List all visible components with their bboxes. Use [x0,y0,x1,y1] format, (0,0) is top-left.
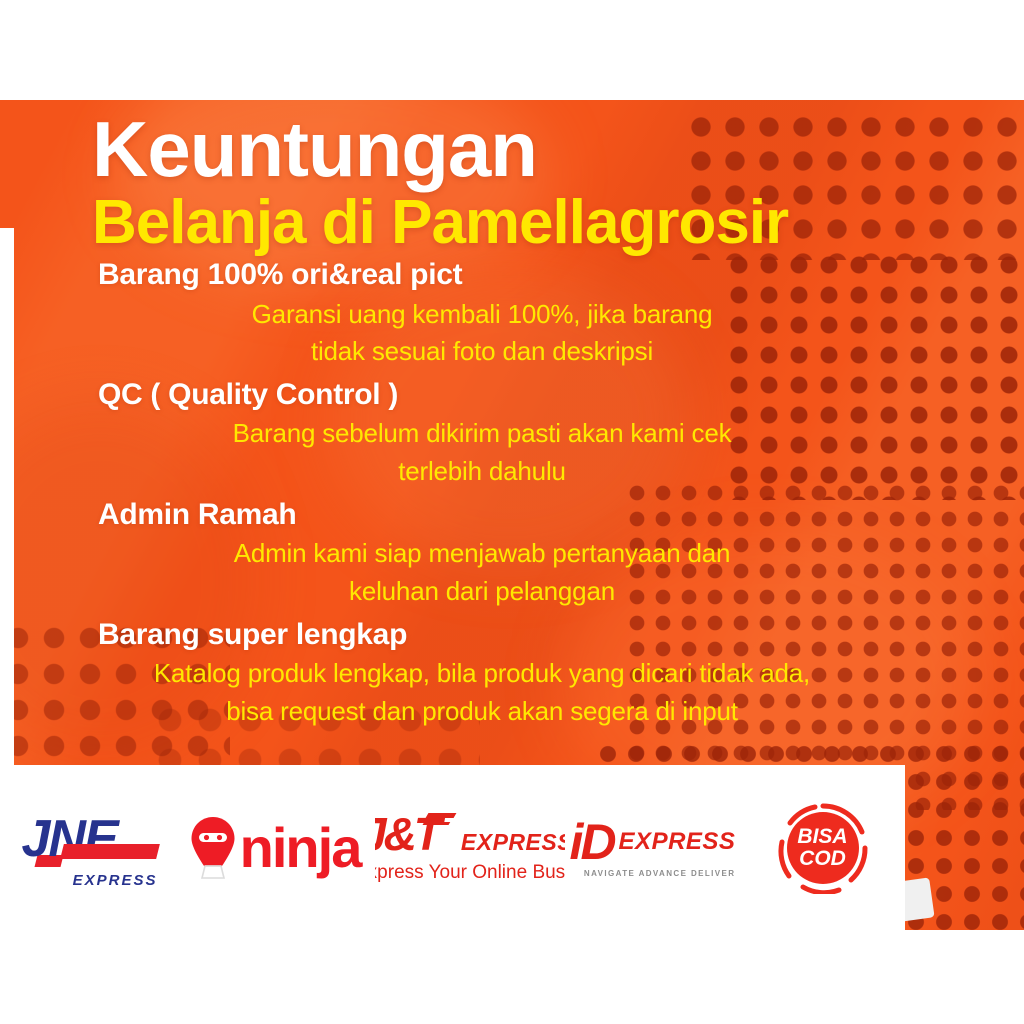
idexpress-tagline: NAVIGATE ADVANCE DELIVER [570,869,736,878]
benefit-description-line: Barang sebelum dikirim pasti akan kami c… [60,415,904,453]
map-pin-ninja-icon [190,816,236,880]
courier-logo-idexpress: iD EXPRESS NAVIGATE ADVANCE DELIVER [565,765,740,930]
idexpress-wordmark: iD [570,817,614,867]
benefit-description: Garansi uang kembali 100%, jika barang t… [0,296,1024,371]
benefits-list: Barang 100% ori&real pict Garansi uang k… [0,255,1024,735]
benefit-description-line: keluhan dari pelanggan [60,573,904,611]
jnt-swoosh-icon [425,813,456,818]
headline-block: Keuntungan Belanja di Pamellagrosir [0,100,1024,255]
benefit-description: Katalog produk lengkap, bila produk yang… [0,655,1024,730]
benefit-description-line: Garansi uang kembali 100%, jika barang [60,296,904,334]
benefit-item: QC ( Quality Control ) Barang sebelum di… [0,375,1024,491]
headline-title-primary: Keuntungan [92,110,1024,188]
benefit-description-line: bisa request dan produk akan segera di i… [60,693,904,731]
bottom-white-margin [0,930,1024,1024]
benefit-title: Admin Ramah [0,495,1024,536]
cod-badge-circle: BISA COD [787,812,859,884]
ninja-wordmark: ninja [240,820,361,876]
jnt-wordmark: J&T [375,811,439,857]
cod-label-line2: COD [799,848,846,869]
cod-label-line1: BISA [797,826,847,847]
benefit-item: Barang 100% ori&real pict Garansi uang k… [0,255,1024,371]
jne-red-bar-icon [60,844,160,859]
top-white-margin [0,0,1024,100]
badge-bisa-cod: BISA COD [740,765,905,930]
courier-logo-jnt: J&T EXPRESS Express Your Online Business [375,765,565,930]
headline-title-secondary: Belanja di Pamellagrosir [92,190,1024,255]
jne-express-label: EXPRESS [73,872,158,889]
benefit-description-line: Admin kami siap menjawab pertanyaan dan [60,535,904,573]
benefit-description-line: terlebih dahulu [60,453,904,491]
benefit-description: Barang sebelum dikirim pasti akan kami c… [0,415,1024,490]
benefit-title: QC ( Quality Control ) [0,375,1024,416]
courier-logo-jne: JNE EXPRESS [0,765,175,930]
benefit-description-line: Katalog produk lengkap, bila produk yang… [60,655,904,693]
benefit-title: Barang 100% ori&real pict [0,255,1024,296]
courier-logos-bar: JNE EXPRESS ninja J&T EXPRESS Express [0,765,905,930]
benefit-description: Admin kami siap menjawab pertanyaan dan … [0,535,1024,610]
jnt-tagline: Express Your Online Business [375,862,565,884]
jnt-express-label: EXPRESS [461,829,565,856]
benefit-title: Barang super lengkap [0,615,1024,656]
benefit-description-line: tidak sesuai foto dan deskripsi [60,333,904,371]
benefit-item: Barang super lengkap Katalog produk leng… [0,615,1024,731]
idexpress-express-label: EXPRESS [619,828,736,856]
courier-logo-ninja: ninja [175,765,375,930]
benefit-item: Admin Ramah Admin kami siap menjawab per… [0,495,1024,611]
